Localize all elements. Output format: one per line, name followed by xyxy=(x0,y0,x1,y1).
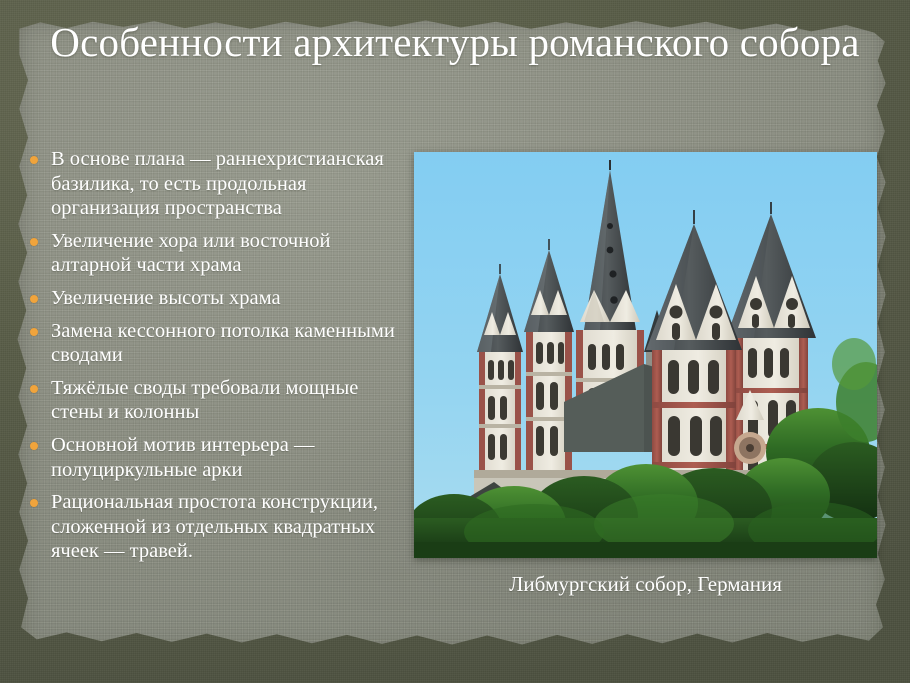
list-item: Увеличение хора или восточной алтарной ч… xyxy=(22,229,414,278)
list-item-label: Основной мотив интерьера — полуциркульны… xyxy=(51,434,314,481)
list-item: Основной мотив интерьера — полуциркульны… xyxy=(22,433,414,482)
list-item: Замена кессонного потолка каменными свод… xyxy=(22,319,414,368)
list-item: Рациональная простота конструкции, сложе… xyxy=(22,490,414,564)
list-item-label: Замена кессонного потолка каменными свод… xyxy=(51,320,395,367)
bullet-dot-icon xyxy=(30,156,38,164)
cathedral-illustration xyxy=(414,152,877,558)
photo-content xyxy=(414,152,877,558)
slide-canvas: Особенности архитектуры романского собор… xyxy=(0,0,910,683)
bullet-list: В основе плана — раннехристианская базил… xyxy=(22,147,414,564)
page-title: Особенности архитектуры романского собор… xyxy=(40,18,870,66)
bullet-dot-icon xyxy=(30,442,38,450)
cathedral-photo xyxy=(414,152,877,558)
list-item-label: Увеличение хора или восточной алтарной ч… xyxy=(51,230,330,277)
list-item: Увеличение высоты храма xyxy=(22,286,414,311)
bullet-dot-icon xyxy=(30,499,38,507)
list-item-label: Тяжёлые своды требовали мощные стены и к… xyxy=(51,377,358,424)
bullet-dot-icon xyxy=(30,328,38,336)
bullet-dot-icon xyxy=(30,295,38,303)
list-item: Тяжёлые своды требовали мощные стены и к… xyxy=(22,376,414,425)
list-item: В основе плана — раннехристианская базил… xyxy=(22,147,414,221)
bullet-dot-icon xyxy=(30,238,38,246)
list-item-label: Увеличение высоты храма xyxy=(51,287,281,309)
list-item-label: В основе плана — раннехристианская базил… xyxy=(51,148,384,219)
photo-caption: Либмургский собор, Германия xyxy=(414,572,877,597)
bullet-dot-icon xyxy=(30,385,38,393)
list-item-label: Рациональная простота конструкции, сложе… xyxy=(51,491,378,562)
